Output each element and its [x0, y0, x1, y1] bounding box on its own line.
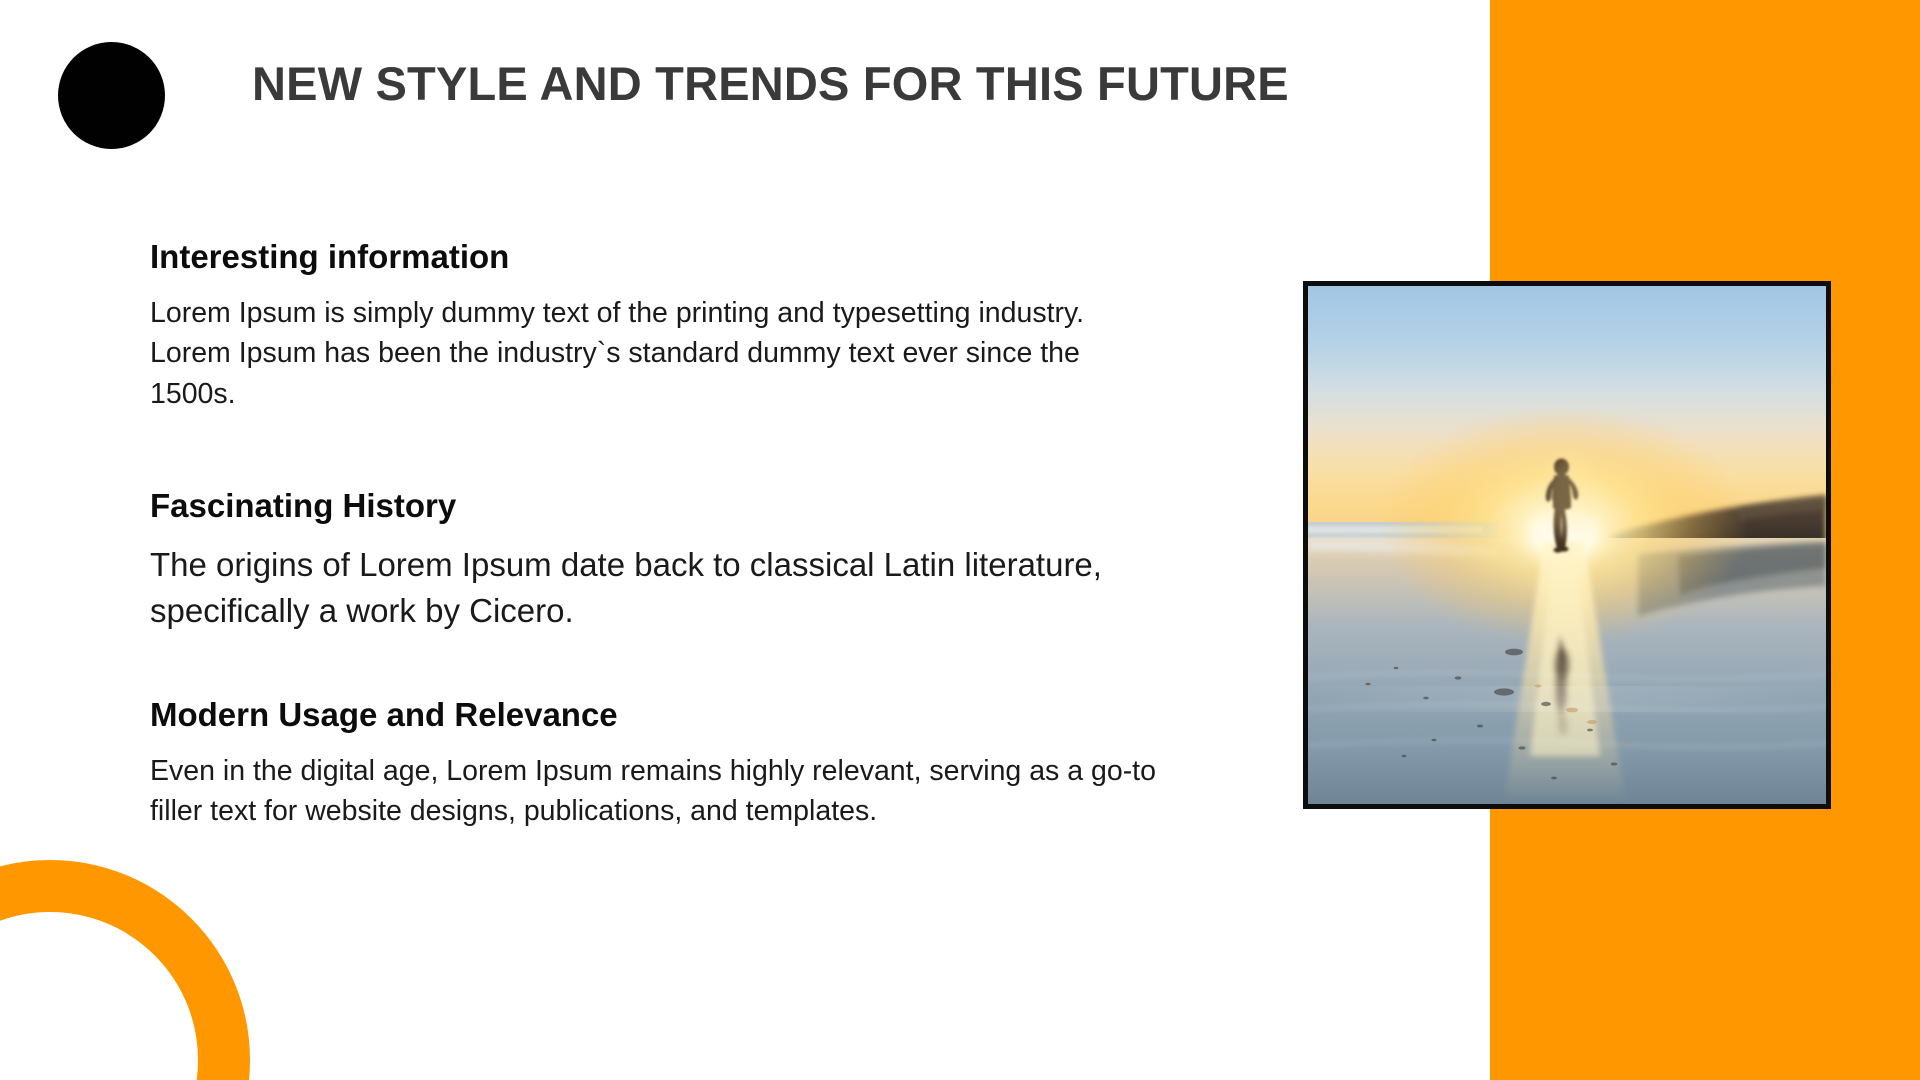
content-section-2: Fascinating History The origins of Lorem…	[150, 486, 1270, 635]
page-title: NEW STYLE AND TRENDS FOR THIS FUTURE	[252, 57, 1289, 111]
content-section-1: Interesting information Lorem Ipsum is s…	[150, 237, 1270, 414]
orange-ring-decoration	[0, 860, 250, 1080]
beach-runner-photo	[1303, 281, 1831, 809]
content-section-3: Modern Usage and Relevance Even in the d…	[150, 695, 1270, 832]
section-body-1: Lorem Ipsum is simply dummy text of the …	[150, 293, 1160, 414]
content-column: Interesting information Lorem Ipsum is s…	[150, 237, 1270, 842]
section-heading-1: Interesting information	[150, 237, 1270, 277]
section-spacer-2	[150, 645, 1270, 695]
header-dot-icon	[58, 42, 165, 149]
slide-header: NEW STYLE AND TRENDS FOR THIS FUTURE	[0, 0, 1490, 190]
section-heading-3: Modern Usage and Relevance	[150, 695, 1270, 735]
beach-runner-illustration	[1308, 286, 1826, 804]
slide-canvas: NEW STYLE AND TRENDS FOR THIS FUTURE Int…	[0, 0, 1920, 1080]
section-body-3: Even in the digital age, Lorem Ipsum rem…	[150, 751, 1160, 832]
section-body-2: The origins of Lorem Ipsum date back to …	[150, 542, 1225, 636]
section-heading-2: Fascinating History	[150, 486, 1270, 526]
section-spacer-1	[150, 424, 1270, 486]
